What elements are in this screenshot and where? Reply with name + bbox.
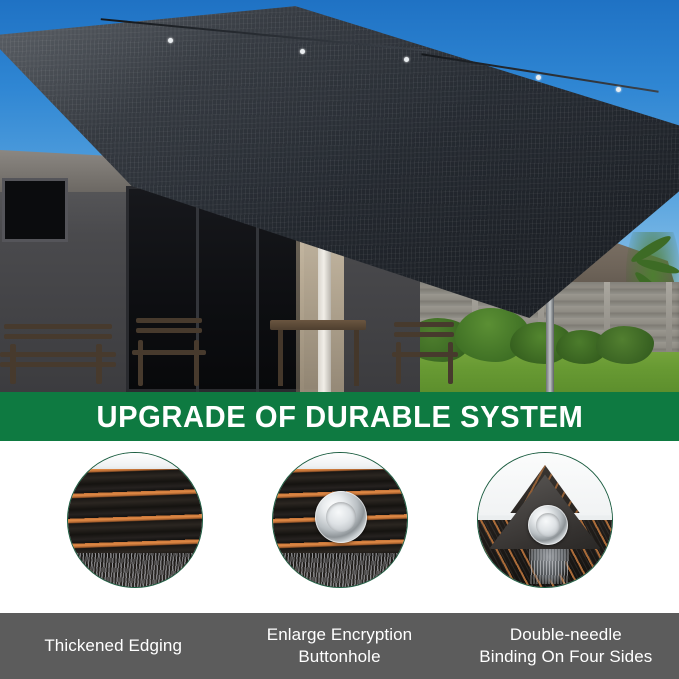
patio-chair bbox=[392, 320, 462, 386]
grommet-ring bbox=[315, 491, 367, 543]
caption-line-1: Enlarge Encryption bbox=[267, 625, 412, 644]
feature-circles-row bbox=[0, 441, 679, 613]
hero-photo bbox=[0, 0, 679, 392]
headline-text: UPGRADE OF DURABLE SYSTEM bbox=[96, 399, 583, 435]
patio-bench bbox=[0, 322, 120, 384]
caption-thickened-edging: Thickened Edging bbox=[0, 613, 226, 679]
caption-line-1: Double-needle bbox=[510, 625, 622, 644]
feature-thickened-edging[interactable] bbox=[67, 452, 203, 588]
caption-line-2: Buttonhole bbox=[298, 647, 380, 666]
grommet-ring bbox=[528, 505, 568, 545]
table-leg bbox=[354, 330, 359, 386]
house-window bbox=[2, 178, 68, 242]
patio-table bbox=[270, 320, 366, 330]
frayed-edge bbox=[67, 553, 203, 587]
fixing-point bbox=[616, 87, 621, 92]
headline-banner: UPGRADE OF DURABLE SYSTEM bbox=[0, 392, 679, 441]
caption-line-2: Binding On Four Sides bbox=[479, 647, 652, 666]
fixing-point bbox=[300, 49, 305, 54]
feature-image-grommet-closeup bbox=[272, 452, 408, 588]
caption-enlarge-encryption-buttonhole: Enlarge Encryption Buttonhole bbox=[226, 613, 452, 679]
feature-image-mesh-edge-closeup bbox=[67, 452, 203, 588]
fixing-point bbox=[404, 57, 409, 62]
patio-chair bbox=[132, 316, 210, 388]
frayed-edge bbox=[272, 553, 408, 587]
fixing-point bbox=[168, 38, 173, 43]
caption-double-needle-binding: Double-needle Binding On Four Sides bbox=[453, 613, 679, 679]
fixing-point bbox=[536, 75, 541, 80]
grommet-hole bbox=[536, 513, 560, 537]
grommet-hole bbox=[326, 502, 356, 532]
table-leg bbox=[278, 330, 283, 386]
caption-bar: Thickened Edging Enlarge Encryption Butt… bbox=[0, 613, 679, 679]
feature-image-corner-binding-closeup bbox=[477, 452, 613, 588]
feature-double-needle-binding[interactable] bbox=[477, 452, 613, 588]
feature-enlarge-encryption-buttonhole[interactable] bbox=[272, 452, 408, 588]
garden-shrub bbox=[596, 326, 654, 364]
product-feature-infographic: UPGRADE OF DURABLE SYSTEM bbox=[0, 0, 679, 679]
